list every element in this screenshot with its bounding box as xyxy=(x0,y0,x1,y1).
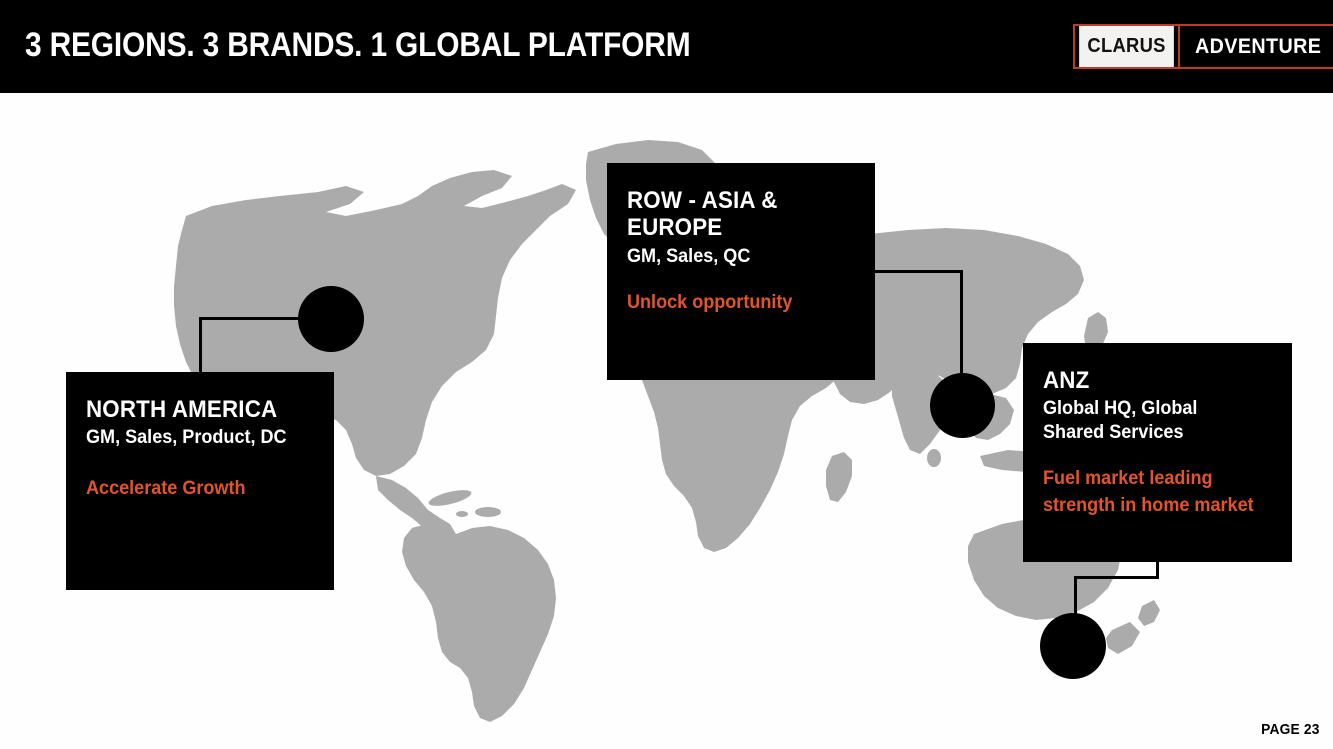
anz-dot[interactable] xyxy=(1040,613,1106,679)
callout-roles: GM, Sales, Product, DC xyxy=(86,426,303,449)
brand-logo: CLARUS ADVENTURE xyxy=(1073,24,1333,69)
north-america-dot[interactable] xyxy=(298,286,364,352)
presentation-slide: 3 REGIONS. 3 BRANDS. 1 GLOBAL PLATFORM C… xyxy=(0,0,1333,749)
callout-goal: Fuel market leading strength in home mar… xyxy=(1043,466,1261,520)
logo-clarus-text: CLARUS xyxy=(1079,26,1174,67)
land-new-zealand-south xyxy=(1106,622,1140,654)
callout-region-title: ROW - ASIA & EUROPE xyxy=(627,187,839,242)
land-new-zealand-north xyxy=(1138,600,1160,626)
land-south-america xyxy=(402,524,556,722)
callout-region-title: NORTH AMERICA xyxy=(86,396,298,423)
row-dot[interactable] xyxy=(930,373,995,438)
logo-divider xyxy=(1178,26,1180,67)
connector-anz-horizontal xyxy=(1074,576,1159,579)
land-sri-lanka xyxy=(927,449,941,467)
connector-north-america-vertical xyxy=(199,317,202,377)
callout-region-title: ANZ xyxy=(1043,367,1256,394)
page-title: 3 REGIONS. 3 BRANDS. 1 GLOBAL PLATFORM xyxy=(25,26,690,65)
callout-anz[interactable]: ANZ Global HQ, Global Shared Services Fu… xyxy=(1023,343,1292,562)
callout-roles: GM, Sales, QC xyxy=(627,245,844,268)
land-cuba xyxy=(427,487,473,509)
logo-adventure-text: ADVENTURE xyxy=(1185,26,1332,67)
page-number: PAGE 23 xyxy=(1261,721,1320,738)
land-jamaica xyxy=(456,511,468,517)
callout-goal: Unlock opportunity xyxy=(627,290,844,317)
connector-row-horizontal xyxy=(873,270,963,273)
slide-header: 3 REGIONS. 3 BRANDS. 1 GLOBAL PLATFORM C… xyxy=(0,0,1333,93)
callout-roles: Global HQ, Global Shared Services xyxy=(1043,397,1261,443)
callout-goal: Accelerate Growth xyxy=(86,476,303,503)
land-madagascar xyxy=(826,452,852,502)
callout-row[interactable]: ROW - ASIA & EUROPE GM, Sales, QC Unlock… xyxy=(607,163,875,380)
land-hispaniola xyxy=(475,507,501,517)
callout-north-america[interactable]: NORTH AMERICA GM, Sales, Product, DC Acc… xyxy=(66,372,334,590)
